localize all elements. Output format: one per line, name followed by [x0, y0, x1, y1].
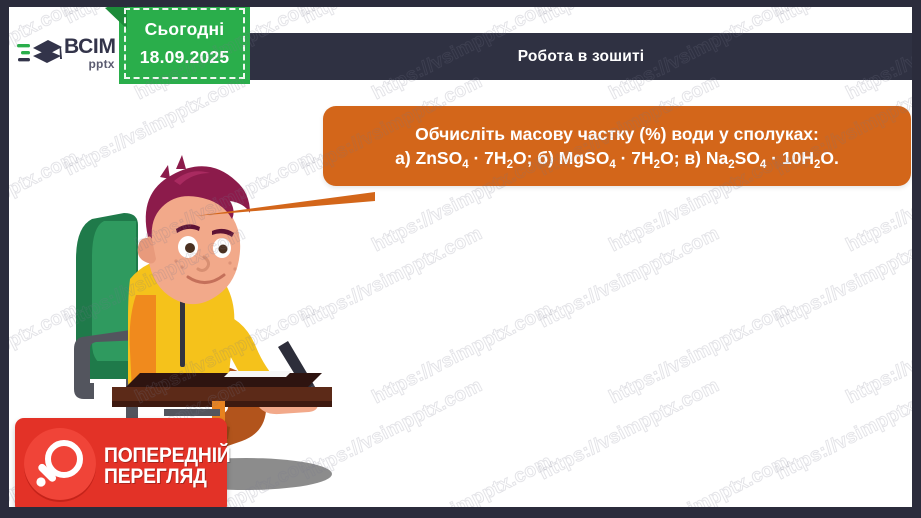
logo-wordmark: ВСІМ pptx	[64, 36, 116, 70]
desk-surface	[126, 373, 322, 387]
date-badge-value: 18.09.2025	[140, 47, 230, 68]
watermark-text: https://vsimpptx.com	[9, 223, 12, 333]
freckle	[174, 259, 177, 262]
logo-subtitle: pptx	[64, 58, 115, 70]
hair-spike-1	[160, 165, 170, 179]
brand-logo[interactable]: ВСІМ pptx	[9, 24, 129, 82]
date-badge: Сьогодні 18.09.2025	[119, 7, 250, 84]
task-speech-bubble: Обчисліть масову частку (%) води у сполу…	[323, 106, 911, 186]
freckle	[228, 261, 231, 264]
freckle	[180, 265, 183, 268]
watermark-text: https://vsimpptx.com	[606, 451, 793, 507]
page-title: Робота в зошиті	[518, 48, 645, 66]
watermark-text: https://vsimpptx.com	[9, 71, 12, 181]
watermark-text: https://vsimpptx.com	[773, 375, 912, 485]
watermark-text: https://vsimpptx.com	[536, 375, 723, 485]
tail-shape	[195, 192, 375, 216]
desk-crossbar	[164, 409, 220, 416]
watermark-text: https://vsimpptx.com	[9, 375, 12, 485]
pupil-right	[219, 245, 228, 254]
slide-canvas: Обчисліть масову частку (%) води у сполу…	[9, 7, 912, 507]
desk-edge	[112, 387, 332, 401]
logo-title: ВСІМ	[64, 36, 116, 57]
paper	[224, 371, 292, 377]
preview-button[interactable]: ПОПЕРЕДНІЙ ПЕРЕГЛЯД	[15, 418, 227, 507]
pupil-left	[185, 243, 195, 253]
magnifier-icon	[22, 428, 98, 504]
watermark-text: https://vsimpptx.com	[299, 7, 486, 29]
watermark-text: https://vsimpptx.com	[843, 451, 912, 507]
preview-line-2: ПЕРЕГЛЯД	[104, 466, 231, 487]
graduation-cap-icon	[17, 35, 63, 71]
watermark-text: https://vsimpptx.com	[843, 299, 912, 409]
preview-button-labels: ПОПЕРЕДНІЙ ПЕРЕГЛЯД	[104, 445, 242, 488]
task-line-1: Обчисліть масову частку (%) води у сполу…	[415, 122, 819, 146]
header-bar: Робота в зошиті	[250, 33, 912, 80]
watermark-text: https://vsimpptx.com	[773, 7, 912, 29]
slide-frame: Обчисліть масову частку (%) води у сполу…	[0, 0, 921, 518]
date-badge-label: Сьогодні	[145, 19, 225, 40]
watermark-text: https://vsimpptx.com	[369, 451, 556, 507]
freckle	[233, 267, 236, 270]
watermark-text: https://vsimpptx.com	[369, 299, 556, 409]
watermark-text: https://vsimpptx.com	[773, 223, 912, 333]
hair-spike-2	[176, 155, 186, 169]
task-line-2: а) ZnSO4 · 7H2O; б) MgSO4 · 7H2O; в) Na2…	[395, 146, 839, 170]
preview-line-1: ПОПЕРЕДНІЙ	[104, 445, 231, 466]
speech-bubble-tail	[195, 192, 375, 220]
watermark-text: https://vsimpptx.com	[606, 299, 793, 409]
watermark-text: https://vsimpptx.com	[536, 7, 723, 29]
watermark-text: https://vsimpptx.com	[536, 223, 723, 333]
